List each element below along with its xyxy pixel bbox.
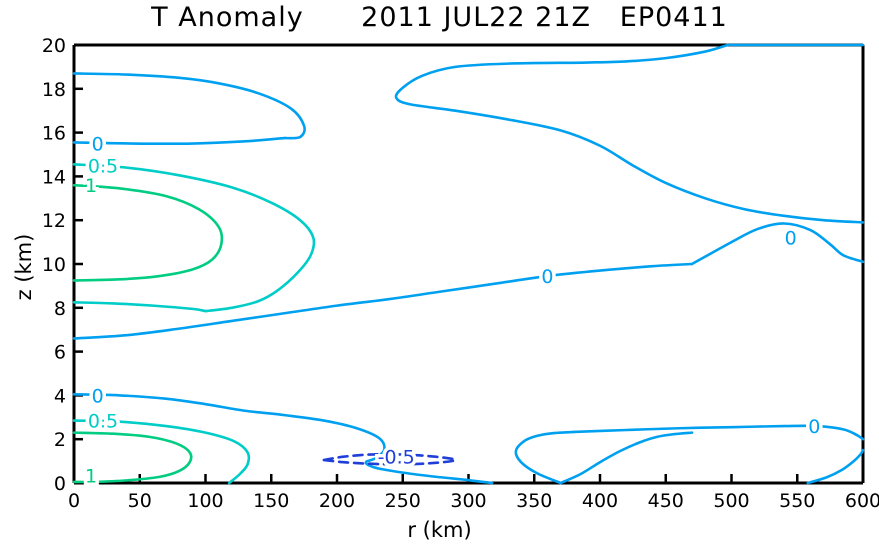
svg-text:20: 20 bbox=[42, 35, 66, 57]
svg-text:16: 16 bbox=[42, 123, 66, 145]
contour-label: 0.5 bbox=[88, 155, 118, 177]
svg-text:250: 250 bbox=[385, 490, 421, 512]
contour-label: 0 bbox=[785, 228, 797, 250]
plot-frame bbox=[74, 45, 863, 483]
contour-label: 1 bbox=[85, 465, 97, 487]
svg-text:14: 14 bbox=[42, 166, 66, 188]
svg-text:350: 350 bbox=[516, 490, 552, 512]
svg-text:8: 8 bbox=[54, 298, 66, 320]
contour-label: 0 bbox=[541, 266, 553, 288]
svg-text:200: 200 bbox=[319, 490, 355, 512]
svg-text:12: 12 bbox=[42, 210, 66, 232]
svg-text:0: 0 bbox=[68, 490, 80, 512]
svg-text:18: 18 bbox=[42, 79, 66, 101]
svg-text:600: 600 bbox=[845, 490, 879, 512]
contour-label: 1 bbox=[85, 175, 97, 197]
svg-text:10: 10 bbox=[42, 254, 66, 276]
y-axis-tick-labels: 02468101214161820 bbox=[42, 35, 66, 495]
svg-text:300: 300 bbox=[450, 490, 486, 512]
svg-text:50: 50 bbox=[128, 490, 152, 512]
svg-text:450: 450 bbox=[648, 490, 684, 512]
x-axis-title: r (km) bbox=[0, 518, 879, 542]
svg-text:550: 550 bbox=[779, 490, 815, 512]
svg-text:4: 4 bbox=[54, 385, 66, 407]
contour-label: 0 bbox=[808, 416, 820, 438]
contour-label: 0.5 bbox=[88, 411, 118, 433]
svg-text:150: 150 bbox=[253, 490, 289, 512]
svg-text:2: 2 bbox=[54, 429, 66, 451]
svg-text:400: 400 bbox=[582, 490, 618, 512]
contour-label: 0 bbox=[92, 385, 104, 407]
svg-text:6: 6 bbox=[54, 342, 66, 364]
y-axis-title: z (km) bbox=[12, 207, 36, 327]
contour-label: -0.5 bbox=[378, 447, 415, 469]
x-axis-tick-labels: 050100150200250300350400450500550600 bbox=[68, 490, 879, 512]
contour-label: 0 bbox=[92, 134, 104, 156]
svg-text:100: 100 bbox=[187, 490, 223, 512]
svg-text:0: 0 bbox=[54, 473, 66, 495]
svg-text:500: 500 bbox=[713, 490, 749, 512]
figure-canvas: T Anomaly 2011 JUL22 21Z EP0411 05010015… bbox=[0, 0, 879, 558]
contour-plot: 050100150200250300350400450500550600 024… bbox=[0, 0, 879, 558]
